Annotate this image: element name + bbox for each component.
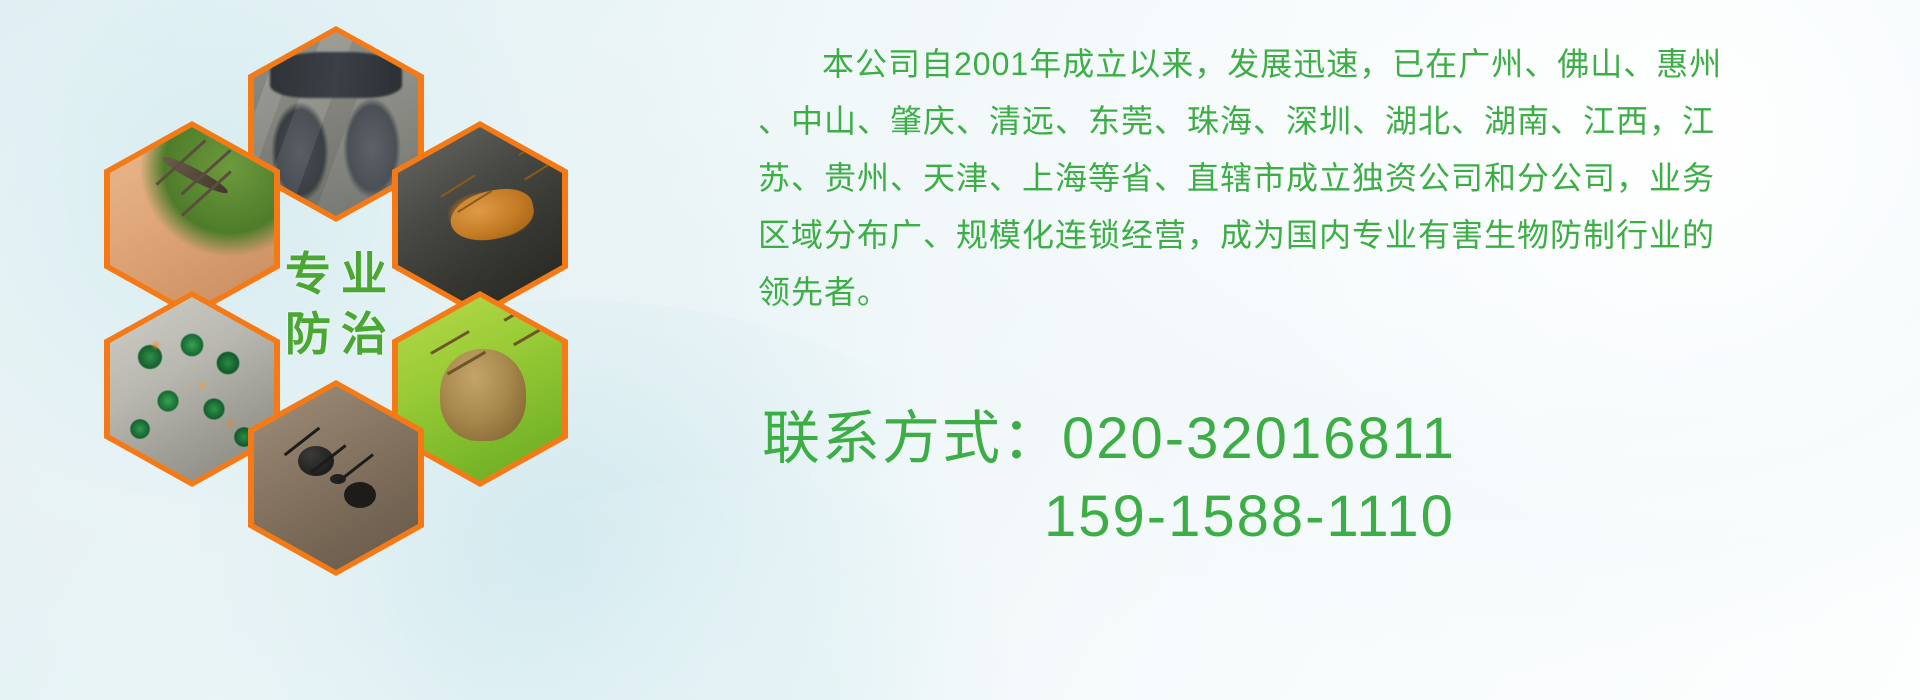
- description-line-2: 、中山、肇庆、清远、东莞、珠海、深圳、湖北、湖南、江西，江: [758, 93, 1848, 150]
- description-line-3: 苏、贵州、天津、上海等省、直辖市成立独资公司和分公司，业务: [758, 150, 1848, 207]
- contact-block: 联系方式：020-32016811 159-1588-1110: [762, 400, 1862, 556]
- badge-line-1: 专业: [275, 251, 397, 297]
- hex-center-badge: 专业 防治: [236, 204, 436, 404]
- description-line-4: 区域分布广、规模化连锁经营，成为国内专业有害生物防制行业的: [758, 207, 1848, 264]
- contact-phone-primary[interactable]: 020-32016811: [1062, 406, 1456, 471]
- promo-banner: 专业 防治 本公司自2001年成立以来，发展迅速，已在广州、佛山、惠州 、中山、…: [0, 0, 1920, 700]
- contact-label: 联系方式：: [762, 406, 1062, 471]
- contact-line-primary: 联系方式：020-32016811: [762, 400, 1862, 478]
- badge-line-2: 防治: [275, 311, 397, 357]
- hexagon-photo-cluster: 专业 防治: [86, 8, 586, 568]
- company-description: 本公司自2001年成立以来，发展迅速，已在广州、佛山、惠州 、中山、肇庆、清远、…: [758, 36, 1848, 321]
- ant-photo: [254, 386, 418, 570]
- description-line-5: 领先者。: [758, 264, 1848, 321]
- contact-phone-secondary[interactable]: 159-1588-1110: [762, 478, 1862, 556]
- description-line-1: 本公司自2001年成立以来，发展迅速，已在广州、佛山、惠州: [758, 36, 1848, 93]
